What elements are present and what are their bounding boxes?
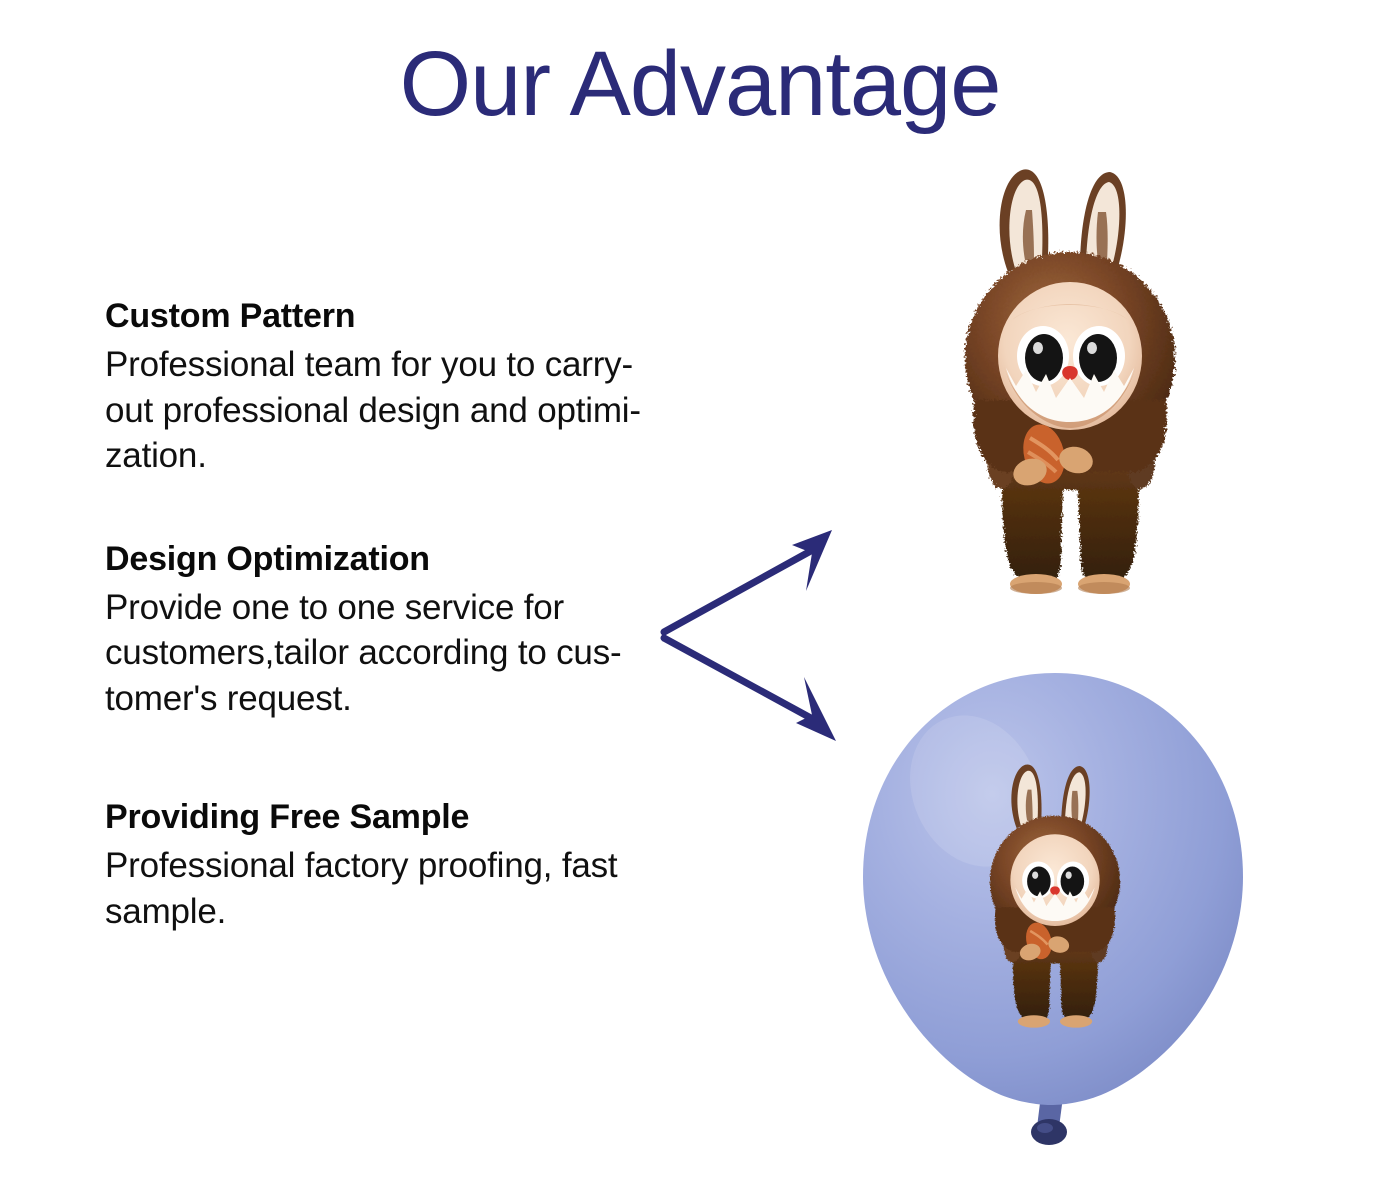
advantage-heading: Providing Free Sample [105, 797, 795, 837]
branching-double-arrow-icon [640, 505, 860, 765]
figurine-feet [1010, 574, 1130, 594]
advantage-body: Professional factory proofing, fast samp… [105, 843, 795, 934]
plush-monster-figurine-icon [930, 160, 1210, 600]
figurine-face [998, 282, 1142, 430]
printed-latex-balloon-icon [855, 665, 1255, 1165]
page-title: Our Advantage [0, 36, 1400, 133]
advantage-infographic: Our Advantage Custom Pattern Professiona… [0, 0, 1400, 1188]
advantage-heading: Custom Pattern [105, 296, 795, 336]
advantage-item-custom-pattern: Custom Pattern Professional team for you… [105, 296, 795, 479]
advantage-item-providing-free-sample: Providing Free Sample Professional facto… [105, 797, 795, 934]
advantage-body: Professional team for you to carry- out … [105, 342, 795, 479]
